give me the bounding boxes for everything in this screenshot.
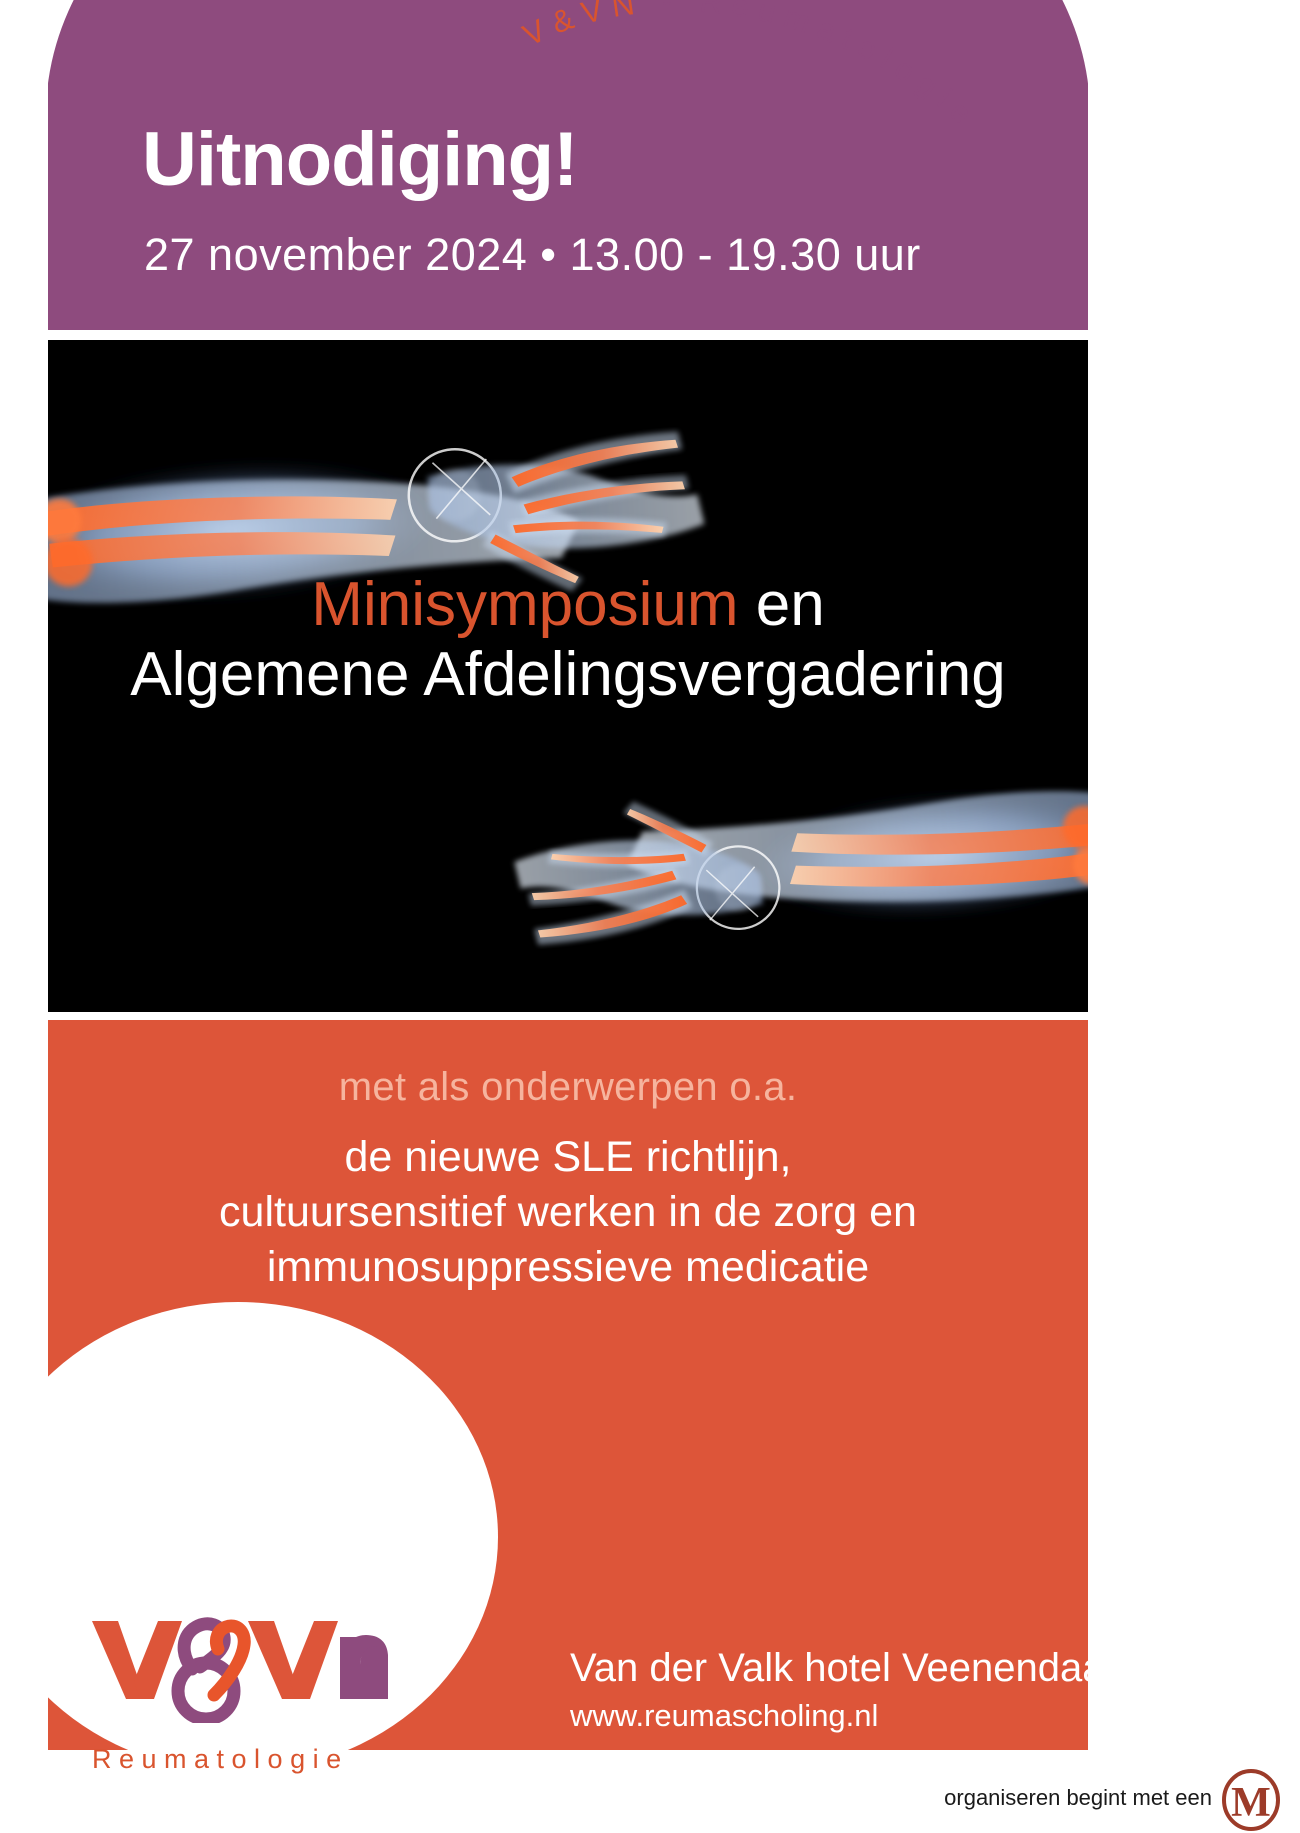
hero-title-connector: en [739, 570, 825, 639]
list-item: de nieuwe SLE richtlijn, [48, 1130, 1088, 1185]
vvn-logo [88, 1595, 388, 1723]
xray-hand-bottom-icon [440, 716, 1088, 1012]
hero-title: Minisymposium en Algemene Afdelingsverga… [48, 572, 1088, 709]
venue-block: Van der Valk hotel Veenendaal www.reumas… [570, 1647, 1113, 1734]
list-item: immunosuppressieve medicatie [48, 1240, 1088, 1295]
footer-tagline: organiseren begint met een [944, 1785, 1212, 1811]
invitation-poster: V&VN - Reumatologie Uitnodiging! 27 nove… [0, 0, 1300, 1833]
event-datetime: 27 november 2024 • 13.00 - 19.30 uur [144, 232, 921, 277]
logo-subtitle: Reumatologie [92, 1744, 349, 1775]
hero-title-highlight: Minisymposium [311, 570, 738, 639]
topics-lead: met als onderwerpen o.a. [48, 1065, 1088, 1110]
topics-list: de nieuwe SLE richtlijn, cultuursensitie… [48, 1130, 1088, 1295]
m-logo-letter: M [1231, 1780, 1271, 1826]
hero-title-line1: Minisymposium en [48, 572, 1088, 638]
hero-title-line2: Algemene Afdelingsvergadering [48, 642, 1088, 708]
list-item: cultuursensitief werken in de zorg en [48, 1185, 1088, 1240]
venue-name: Van der Valk hotel Veenendaal [570, 1647, 1113, 1689]
page-title: Uitnodiging! [142, 122, 577, 198]
hero-image-panel: Minisymposium en Algemene Afdelingsverga… [48, 340, 1088, 1012]
organiser-m-logo-icon: M [1220, 1769, 1282, 1831]
venue-website-link[interactable]: www.reumascholing.nl [570, 1698, 1113, 1734]
